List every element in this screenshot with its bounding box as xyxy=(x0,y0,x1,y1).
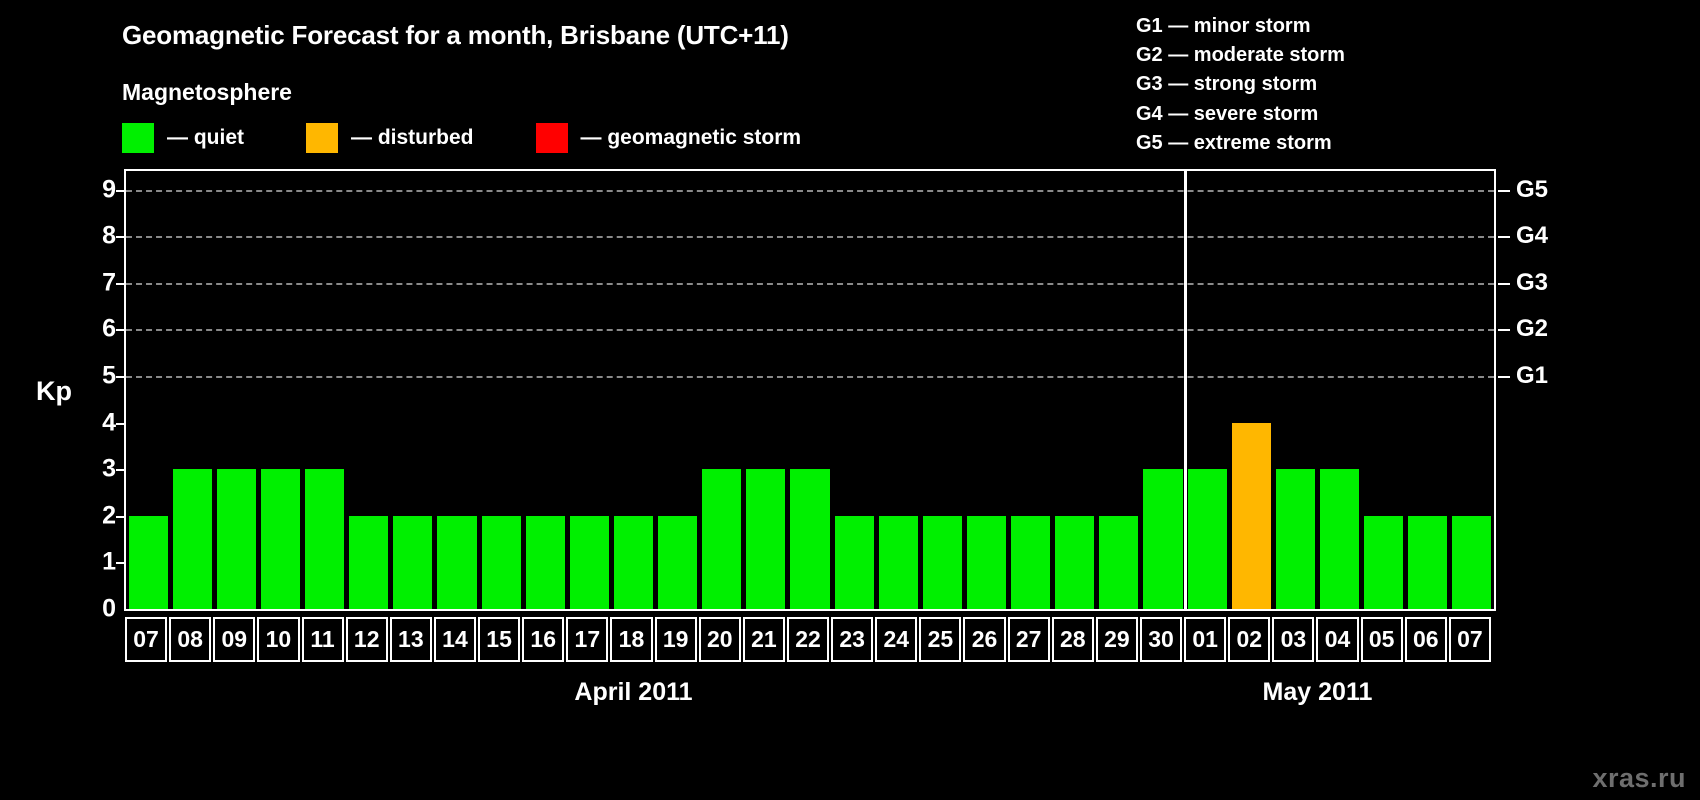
date-label-26[interactable]: 03 xyxy=(1272,617,1314,662)
legend: — quiet— disturbed— geomagnetic storm xyxy=(122,123,801,153)
date-label-0[interactable]: 07 xyxy=(125,617,167,662)
y-tick-mark xyxy=(116,423,126,425)
y-tick-label-9: 9 xyxy=(76,175,116,204)
plot-area xyxy=(124,169,1496,611)
y-tick-label-6: 6 xyxy=(76,315,116,344)
gscale-legend-line-3: G3 — strong storm xyxy=(1136,70,1345,99)
g-axis-label-G4: G4 xyxy=(1516,222,1548,250)
date-label-17[interactable]: 24 xyxy=(875,617,917,662)
bar-14-7[interactable] xyxy=(437,516,476,609)
g-tick-mark xyxy=(1498,190,1510,192)
date-label-4[interactable]: 11 xyxy=(302,617,344,662)
bar-23-16[interactable] xyxy=(835,516,874,609)
bar-04-27[interactable] xyxy=(1320,469,1359,609)
gridline xyxy=(126,236,1494,238)
magnetosphere-label: Magnetosphere xyxy=(122,79,292,106)
bar-06-29[interactable] xyxy=(1408,516,1447,609)
date-label-18[interactable]: 25 xyxy=(919,617,961,662)
bar-17-10[interactable] xyxy=(570,516,609,609)
bar-08-1[interactable] xyxy=(173,469,212,609)
legend-label: — geomagnetic storm xyxy=(581,126,802,150)
date-label-15[interactable]: 22 xyxy=(787,617,829,662)
bar-24-17[interactable] xyxy=(879,516,918,609)
bar-10-3[interactable] xyxy=(261,469,300,609)
bar-18-11[interactable] xyxy=(614,516,653,609)
bar-27-20[interactable] xyxy=(1011,516,1050,609)
y-tick-label-0: 0 xyxy=(76,595,116,624)
date-label-24[interactable]: 01 xyxy=(1184,617,1226,662)
g-axis-label-G5: G5 xyxy=(1516,176,1548,204)
date-label-12[interactable]: 19 xyxy=(655,617,697,662)
bar-09-2[interactable] xyxy=(217,469,256,609)
watermark: xras.ru xyxy=(1592,763,1686,794)
page-title: Geomagnetic Forecast for a month, Brisba… xyxy=(122,20,789,51)
date-label-23[interactable]: 30 xyxy=(1140,617,1182,662)
today-divider-line xyxy=(1184,171,1187,609)
date-label-19[interactable]: 26 xyxy=(963,617,1005,662)
legend-entry-geomagneticstorm: — geomagnetic storm xyxy=(536,123,802,153)
bar-11-4[interactable] xyxy=(305,469,344,609)
bar-16-9[interactable] xyxy=(526,516,565,609)
date-label-8[interactable]: 15 xyxy=(478,617,520,662)
gridline xyxy=(126,329,1494,331)
legend-entry-quiet: — quiet xyxy=(122,123,244,153)
g-tick-mark xyxy=(1498,329,1510,331)
bar-21-14[interactable] xyxy=(746,469,785,609)
bar-07-0[interactable] xyxy=(129,516,168,609)
y-tick-label-3: 3 xyxy=(76,455,116,484)
date-label-1[interactable]: 08 xyxy=(169,617,211,662)
y-tick-mark xyxy=(116,469,126,471)
month-label-0: April 2011 xyxy=(574,678,692,707)
date-label-2[interactable]: 09 xyxy=(213,617,255,662)
bar-15-8[interactable] xyxy=(482,516,521,609)
gridline xyxy=(126,190,1494,192)
date-label-16[interactable]: 23 xyxy=(831,617,873,662)
date-label-29[interactable]: 06 xyxy=(1405,617,1447,662)
bar-12-5[interactable] xyxy=(349,516,388,609)
month-label-1: May 2011 xyxy=(1263,678,1373,707)
legend-entry-disturbed: — disturbed xyxy=(306,123,474,153)
gridline xyxy=(126,376,1494,378)
legend-label: — quiet xyxy=(167,126,244,150)
y-tick-mark xyxy=(116,283,126,285)
date-label-11[interactable]: 18 xyxy=(610,617,652,662)
date-label-25[interactable]: 02 xyxy=(1228,617,1270,662)
y-axis-title: Kp xyxy=(36,376,72,407)
date-label-6[interactable]: 13 xyxy=(390,617,432,662)
g-axis-label-G3: G3 xyxy=(1516,269,1548,297)
legend-swatch-icon xyxy=(306,123,338,153)
g-axis-label-G1: G1 xyxy=(1516,362,1548,390)
date-label-7[interactable]: 14 xyxy=(434,617,476,662)
date-label-13[interactable]: 20 xyxy=(699,617,741,662)
y-tick-mark xyxy=(116,562,126,564)
gscale-legend: G1 — minor stormG2 — moderate stormG3 — … xyxy=(1136,12,1345,158)
y-axis-tick-labels: 0123456789 xyxy=(70,169,116,611)
bar-05-28[interactable] xyxy=(1364,516,1403,609)
legend-swatch-icon xyxy=(122,123,154,153)
date-label-5[interactable]: 12 xyxy=(346,617,388,662)
date-label-22[interactable]: 29 xyxy=(1096,617,1138,662)
bar-20-13[interactable] xyxy=(702,469,741,609)
bar-28-21[interactable] xyxy=(1055,516,1094,609)
y-tick-label-1: 1 xyxy=(76,548,116,577)
bar-19-12[interactable] xyxy=(658,516,697,609)
bar-25-18[interactable] xyxy=(923,516,962,609)
date-label-28[interactable]: 05 xyxy=(1361,617,1403,662)
bar-26-19[interactable] xyxy=(967,516,1006,609)
bar-03-26[interactable] xyxy=(1276,469,1315,609)
y-tick-label-5: 5 xyxy=(76,362,116,391)
gscale-legend-line-1: G1 — minor storm xyxy=(1136,12,1345,41)
y-tick-label-2: 2 xyxy=(76,501,116,530)
gridline xyxy=(126,283,1494,285)
g-tick-mark xyxy=(1498,236,1510,238)
date-label-14[interactable]: 21 xyxy=(743,617,785,662)
y-tick-mark xyxy=(116,329,126,331)
date-axis: 0708091011121314151617181920212223242526… xyxy=(124,617,1496,662)
g-axis-labels: G1G2G3G4G5 xyxy=(1516,169,1596,611)
bar-13-6[interactable] xyxy=(393,516,432,609)
legend-swatch-icon xyxy=(536,123,568,153)
g-axis-label-G2: G2 xyxy=(1516,315,1548,343)
y-tick-mark xyxy=(116,516,126,518)
bar-01-24[interactable] xyxy=(1188,469,1227,609)
g-tick-mark xyxy=(1498,283,1510,285)
y-tick-mark xyxy=(116,190,126,192)
gscale-legend-line-5: G5 — extreme storm xyxy=(1136,129,1345,158)
gscale-legend-line-4: G4 — severe storm xyxy=(1136,100,1345,129)
y-tick-label-7: 7 xyxy=(76,268,116,297)
y-tick-label-8: 8 xyxy=(76,222,116,251)
date-label-3[interactable]: 10 xyxy=(257,617,299,662)
date-label-9[interactable]: 16 xyxy=(522,617,564,662)
y-tick-mark xyxy=(116,236,126,238)
bar-29-22[interactable] xyxy=(1099,516,1138,609)
date-label-30[interactable]: 07 xyxy=(1449,617,1491,662)
g-tick-mark xyxy=(1498,376,1510,378)
date-label-27[interactable]: 04 xyxy=(1316,617,1358,662)
date-label-21[interactable]: 28 xyxy=(1052,617,1094,662)
date-label-10[interactable]: 17 xyxy=(566,617,608,662)
gscale-legend-line-2: G2 — moderate storm xyxy=(1136,41,1345,70)
y-tick-mark xyxy=(116,376,126,378)
legend-label: — disturbed xyxy=(351,126,474,150)
bar-07-30[interactable] xyxy=(1452,516,1491,609)
bar-30-23[interactable] xyxy=(1143,469,1182,609)
bar-22-15[interactable] xyxy=(790,469,829,609)
date-label-20[interactable]: 27 xyxy=(1008,617,1050,662)
y-tick-label-4: 4 xyxy=(76,408,116,437)
bar-02-25[interactable] xyxy=(1232,423,1271,609)
plot-inner xyxy=(126,171,1494,609)
